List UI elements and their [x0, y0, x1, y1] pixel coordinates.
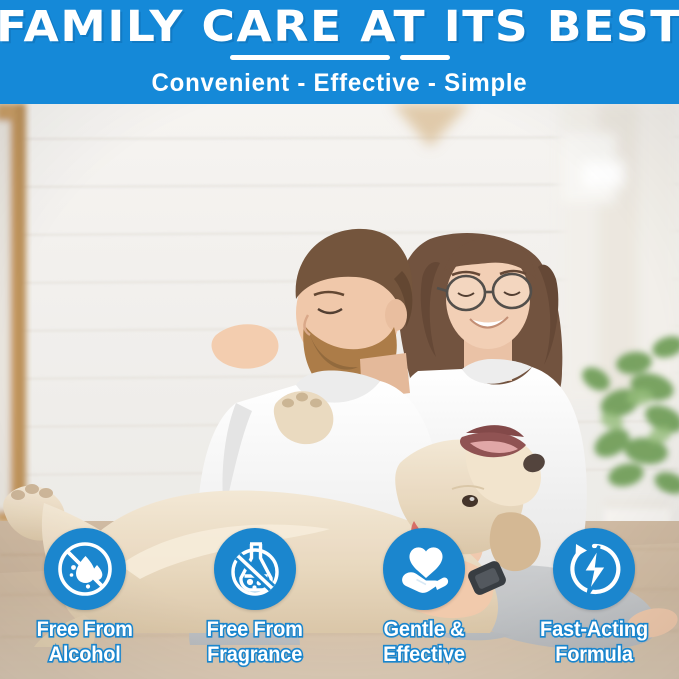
- divider-long-bar: [230, 55, 390, 60]
- product-infographic: FAMILY CARE AT ITS BEST Convenient - Eff…: [0, 0, 679, 679]
- lightning-bolt-refresh-icon: [553, 528, 635, 610]
- feature-item-fast-acting-formula: Fast-Acting Formula: [509, 528, 679, 679]
- header-banner: FAMILY CARE AT ITS BEST Convenient - Eff…: [0, 0, 679, 104]
- feature-item-free-from-alcohol: Free From Alcohol: [0, 528, 170, 679]
- title-divider: [0, 55, 679, 60]
- no-alcohol-droplet-icon: [44, 528, 126, 610]
- feature-item-free-from-fragrance: Free From Fragrance: [170, 528, 340, 679]
- feature-row: Free From Alcohol: [0, 528, 679, 679]
- feature-item-gentle-effective: Gentle & Effective: [340, 528, 510, 679]
- hand-holding-heart-icon: [383, 528, 465, 610]
- feature-label: Free From Alcohol: [37, 617, 133, 667]
- feature-label: Fast-Acting Formula: [540, 617, 648, 667]
- feature-label: Free From Fragrance: [207, 617, 303, 667]
- divider-short-bar: [400, 55, 450, 60]
- feature-label: Gentle & Effective: [384, 617, 466, 667]
- page-subtitle: Convenient - Effective - Simple: [14, 66, 666, 100]
- no-fragrance-flask-icon: [214, 528, 296, 610]
- page-title: FAMILY CARE AT ITS BEST: [0, 2, 679, 52]
